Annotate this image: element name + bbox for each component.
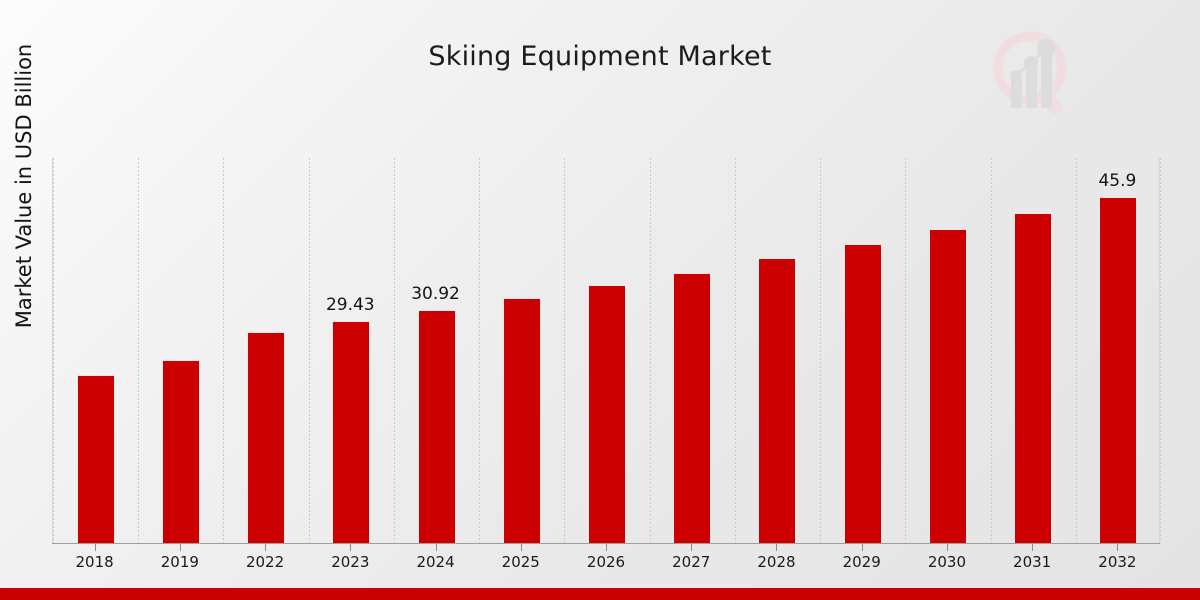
- x-axis-tick-label: 2024: [391, 553, 481, 571]
- bar[interactable]: [844, 244, 882, 543]
- gridline: [1076, 158, 1077, 543]
- bar-value-label: 45.9: [1072, 171, 1162, 191]
- bottom-accent-band: [0, 588, 1200, 600]
- x-axis-tick-label: 2023: [305, 553, 395, 571]
- gridline: [905, 158, 906, 543]
- magnifying-glass-chart-icon: [975, 20, 1085, 130]
- gridline: [479, 158, 480, 543]
- bar[interactable]: [162, 360, 200, 543]
- bar[interactable]: [77, 375, 115, 543]
- brand-watermark-logo: [975, 20, 1085, 130]
- bar[interactable]: [332, 321, 370, 543]
- gridline: [138, 158, 139, 543]
- x-axis-tick-label: 2028: [731, 553, 821, 571]
- x-axis-tick: [436, 544, 437, 551]
- bar[interactable]: [418, 310, 456, 543]
- x-axis-tick-label: 2029: [817, 553, 907, 571]
- bar[interactable]: [1099, 197, 1137, 544]
- gridline: [735, 158, 736, 543]
- bar[interactable]: [758, 258, 796, 543]
- x-axis-tick: [180, 544, 181, 551]
- x-axis-tick-label: 2030: [902, 553, 992, 571]
- x-axis-tick-label: 2027: [646, 553, 736, 571]
- x-axis-tick: [691, 544, 692, 551]
- x-axis-tick-label: 2032: [1072, 553, 1162, 571]
- gridline: [394, 158, 395, 543]
- gridline: [223, 158, 224, 543]
- x-axis-tick: [1117, 544, 1118, 551]
- gridline: [309, 158, 310, 543]
- gridline: [650, 158, 651, 543]
- x-axis-tick: [265, 544, 266, 551]
- x-axis-tick-label: 2019: [135, 553, 225, 571]
- bar[interactable]: [503, 298, 541, 543]
- gridline: [564, 158, 565, 543]
- x-axis-tick-label: 2025: [476, 553, 566, 571]
- bar[interactable]: [929, 229, 967, 543]
- gridline: [991, 158, 992, 543]
- x-axis-tick: [350, 544, 351, 551]
- y-axis-label: Market Value in USD Billion: [12, 0, 36, 386]
- x-axis-tick: [776, 544, 777, 551]
- bar-value-label: 30.92: [391, 284, 481, 304]
- x-axis-tick: [947, 544, 948, 551]
- bar[interactable]: [1014, 213, 1052, 543]
- gridline: [1160, 158, 1161, 543]
- x-axis-tick: [606, 544, 607, 551]
- bar[interactable]: [588, 285, 626, 543]
- bar-value-label: 29.43: [305, 295, 395, 315]
- gridline: [53, 158, 54, 543]
- x-axis-tick-label: 2018: [50, 553, 140, 571]
- plot-area: [52, 158, 1160, 543]
- x-axis-tick: [95, 544, 96, 551]
- chart-canvas: Skiing Equipment Market Market Value in …: [0, 0, 1200, 600]
- bar[interactable]: [247, 332, 285, 543]
- x-axis-tick-label: 2022: [220, 553, 310, 571]
- x-axis-tick: [862, 544, 863, 551]
- x-axis-tick: [521, 544, 522, 551]
- gridline: [820, 158, 821, 543]
- x-axis-tick: [1032, 544, 1033, 551]
- x-axis-tick-label: 2031: [987, 553, 1077, 571]
- bar[interactable]: [673, 273, 711, 543]
- x-axis-tick-label: 2026: [561, 553, 651, 571]
